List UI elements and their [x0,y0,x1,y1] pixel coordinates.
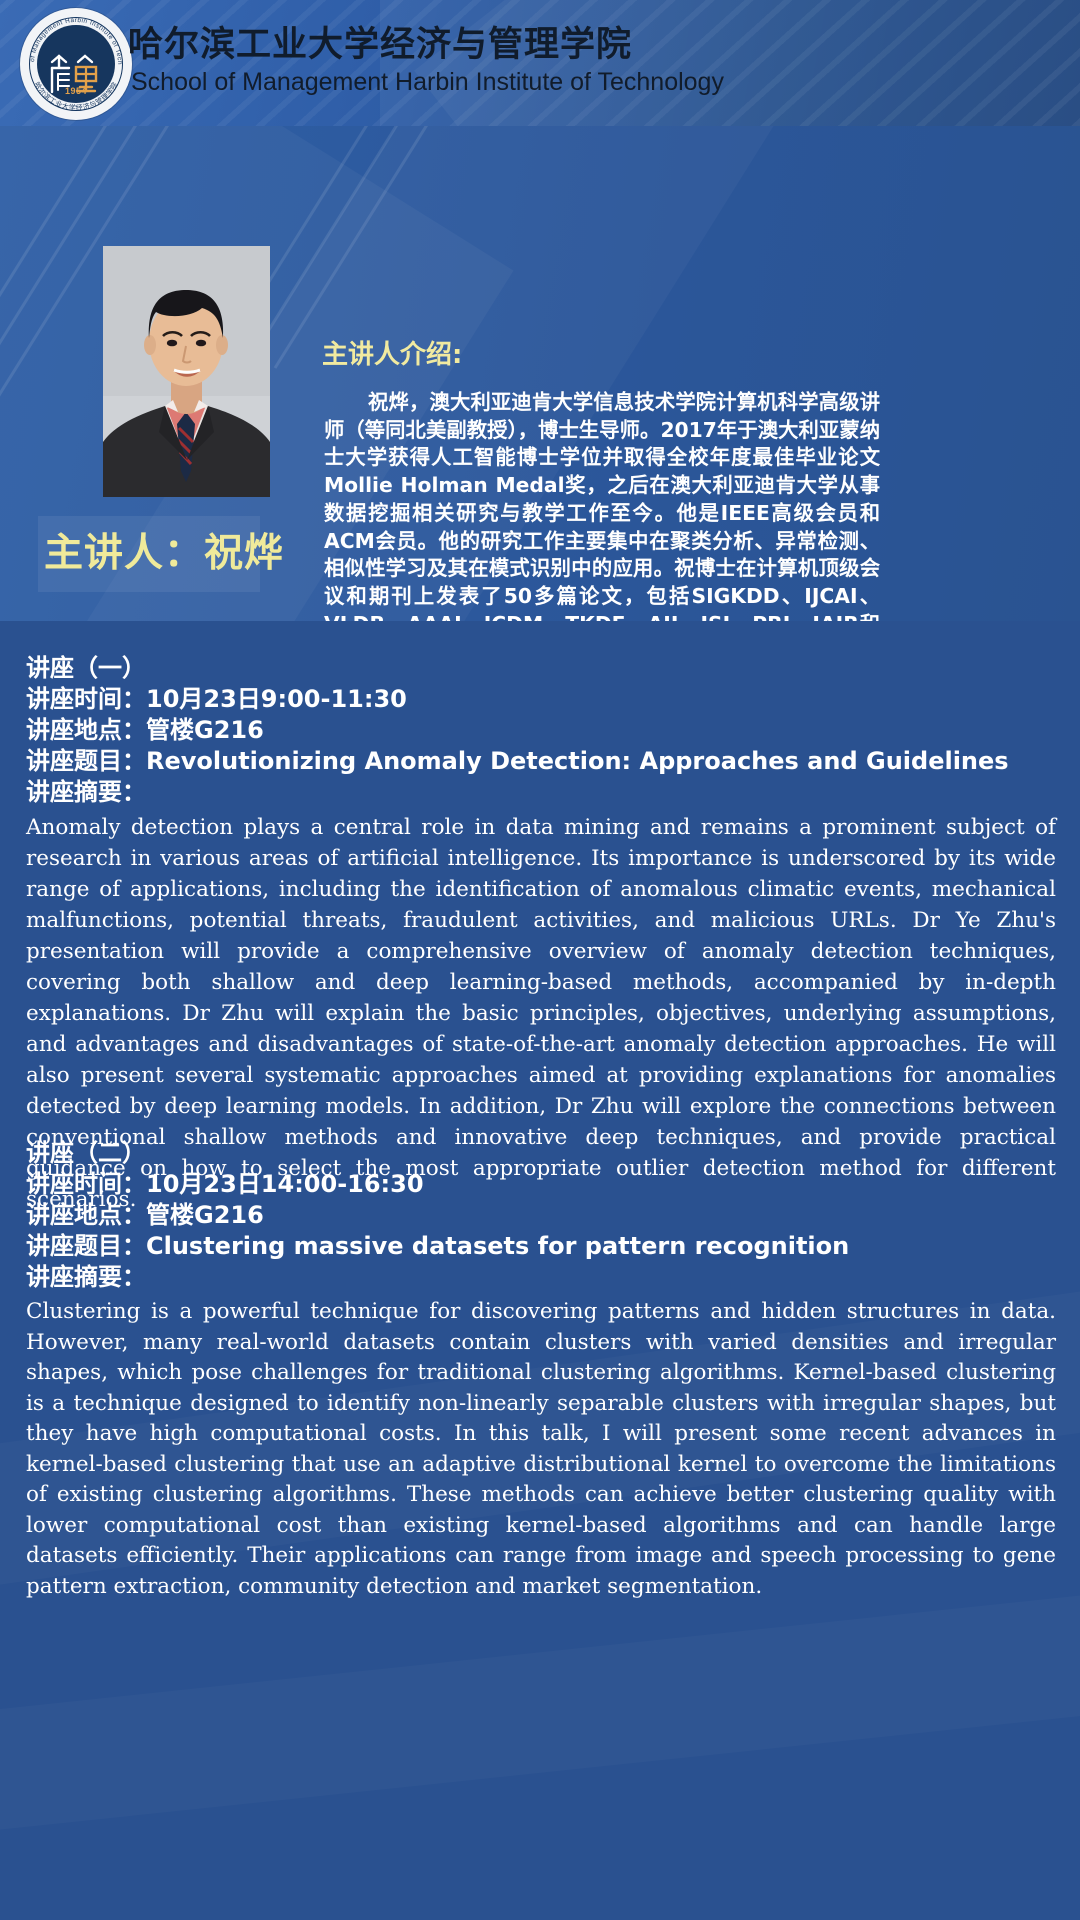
lecture-1-topic-row: 讲座题目：Revolutionizing Anomaly Detection: … [26,746,1058,777]
lecture-2-time-row: 讲座时间：10月23日14:00-16:30 [26,1169,1058,1200]
lecture-2: 讲座（二） 讲座时间：10月23日14:00-16:30 讲座地点：管楼G216… [26,1138,1058,1602]
lecture-2-place-value: 管楼G216 [146,1201,264,1229]
seal-year: 1954 [20,86,132,96]
lecture-2-time-label: 讲座时间： [26,1170,146,1198]
speaker-photo [103,246,270,497]
lecture-1-time-value: 10月23日9:00-11:30 [146,685,407,713]
speaker-bio: 祝烨，澳大利亚迪肯大学信息技术学院计算机科学高级讲师（等同北美副教授），博士生导… [324,389,880,621]
lecture-2-place-row: 讲座地点：管楼G216 [26,1200,1058,1231]
lecture-1-index: 讲座（一） [26,653,1058,684]
page-header: School of Management Harbin Institute of… [0,0,1080,126]
lecture-2-topic-value: Clustering massive datasets for pattern … [146,1232,849,1260]
hit-school-seal-logo: School of Management Harbin Institute of… [20,8,132,120]
speaker-section: 主讲人：祝烨 主讲人介绍: 祝烨，澳大利亚迪肯大学信息技术学院计算机科学高级讲师… [0,126,1080,621]
lecture-1-topic-value: Revolutionizing Anomaly Detection: Appro… [146,747,1009,775]
lecture-2-abstract-label: 讲座摘要： [26,1262,1058,1293]
lecture-1-place-label: 讲座地点： [26,716,146,744]
lecture-2-time-value: 10月23日14:00-16:30 [146,1170,424,1198]
speaker-intro-heading: 主讲人介绍: [322,334,462,371]
lecture-1-place-row: 讲座地点：管楼G216 [26,715,1058,746]
speaker-name: 主讲人：祝烨 [38,522,290,578]
lecture-1-time-row: 讲座时间：10月23日9:00-11:30 [26,684,1058,715]
lecture-2-abstract: Clustering is a powerful technique for d… [26,1297,1056,1602]
lecture-2-topic-row: 讲座题目：Clustering massive datasets for pat… [26,1231,1058,1262]
lecture-1-topic-label: 讲座题目： [26,747,146,775]
lecture-1-time-label: 讲座时间： [26,685,146,713]
lecture-2-place-label: 讲座地点： [26,1201,146,1229]
body-bg-wedge-2 [0,1563,1080,1839]
lecture-2-topic-label: 讲座题目： [26,1232,146,1260]
lecture-2-index: 讲座（二） [26,1138,1058,1169]
header-title-cn: 哈尔滨工业大学经济与管理学院 [128,16,632,67]
lectures-section: 讲座（一） 讲座时间：10月23日9:00-11:30 讲座地点：管楼G216 … [0,621,1080,1920]
header-title-en: School of Management Harbin Institute of… [131,68,724,97]
lecture-1: 讲座（一） 讲座时间：10月23日9:00-11:30 讲座地点：管楼G216 … [26,653,1058,1215]
lecture-1-abstract-label: 讲座摘要： [26,777,1058,808]
lecture-1-place-value: 管楼G216 [146,716,264,744]
